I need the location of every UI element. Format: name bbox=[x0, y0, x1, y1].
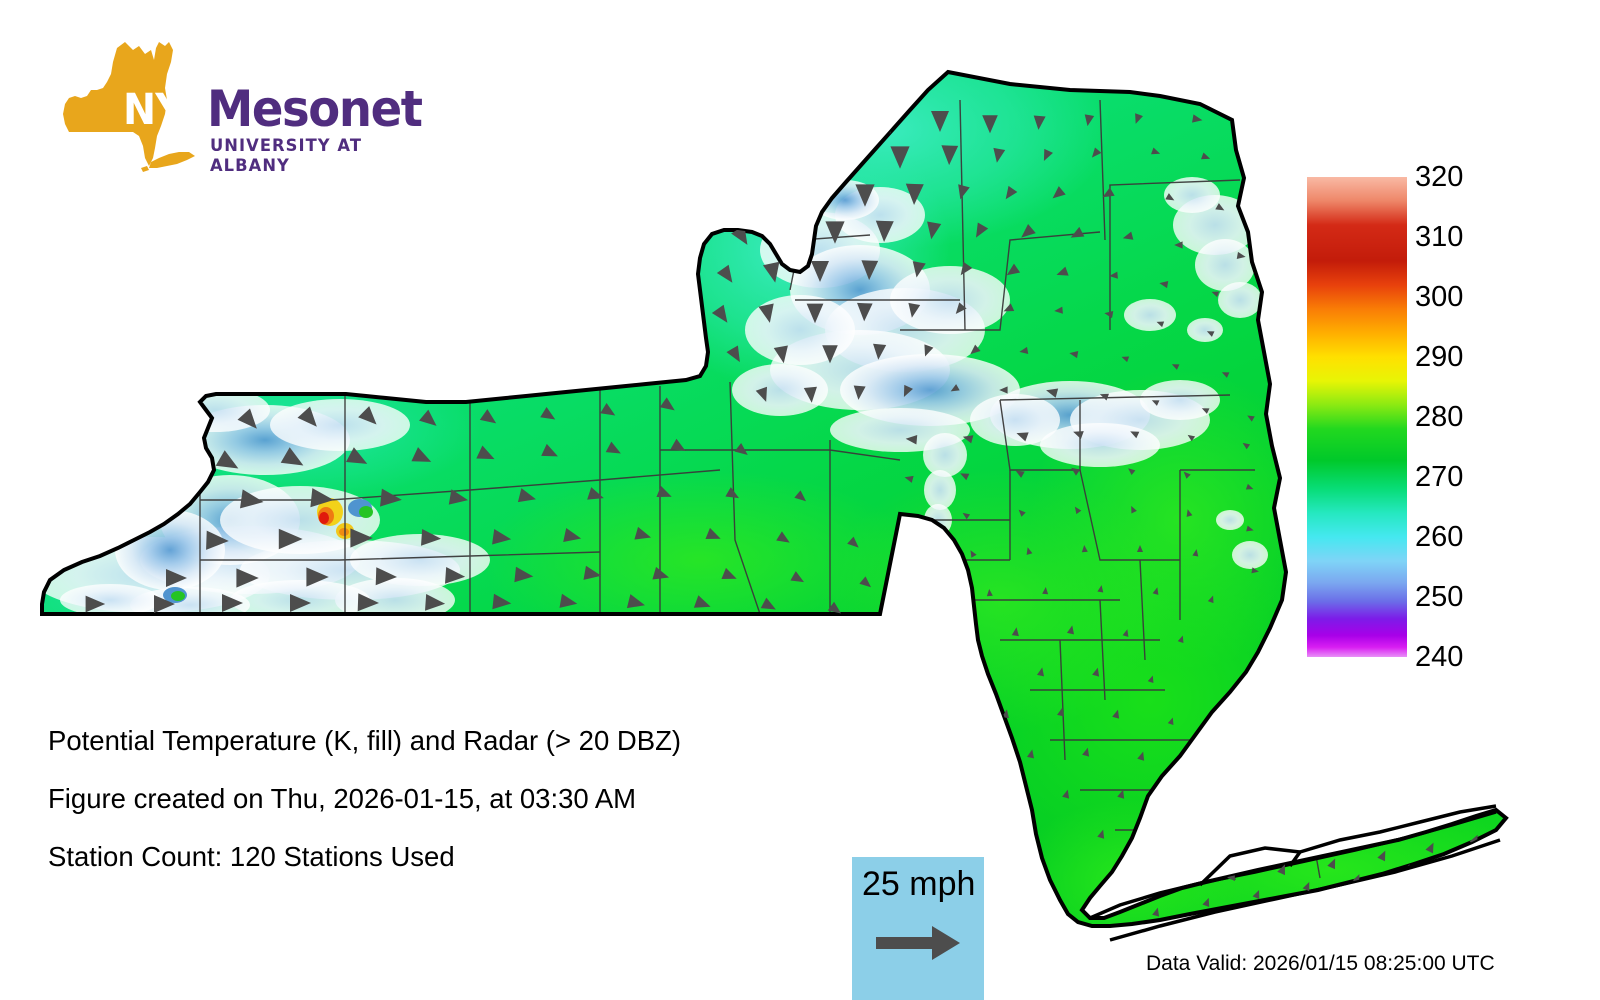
colorbar-tick-310: 310 bbox=[1415, 223, 1463, 252]
colorbar-tick-240: 240 bbox=[1415, 643, 1463, 672]
map-title-caption: Potential Temperature (K, fill) and Rada… bbox=[48, 725, 681, 757]
colorbar-tick-280: 280 bbox=[1415, 403, 1463, 432]
colorbar-tick-250: 250 bbox=[1415, 583, 1463, 612]
figure-created-caption: Figure created on Thu, 2026-01-15, at 03… bbox=[48, 783, 636, 815]
data-valid-timestamp: Data Valid: 2026/01/15 08:25:00 UTC bbox=[1146, 952, 1495, 976]
colorbar bbox=[1307, 177, 1407, 657]
colorbar-gradient bbox=[1307, 177, 1407, 657]
colorbar-tick-320: 320 bbox=[1415, 163, 1463, 192]
colorbar-tick-labels: 320 310 300 290 280 270 260 250 240 bbox=[1415, 177, 1495, 657]
colorbar-tick-260: 260 bbox=[1415, 523, 1463, 552]
wind-speed-legend: 25 mph bbox=[852, 857, 984, 1000]
colorbar-tick-300: 300 bbox=[1415, 283, 1463, 312]
colorbar-tick-290: 290 bbox=[1415, 343, 1463, 372]
right-arrow-icon bbox=[874, 923, 964, 963]
wind-legend-label: 25 mph bbox=[862, 865, 975, 904]
station-count-caption: Station Count: 120 Stations Used bbox=[48, 841, 455, 873]
colorbar-tick-270: 270 bbox=[1415, 463, 1463, 492]
